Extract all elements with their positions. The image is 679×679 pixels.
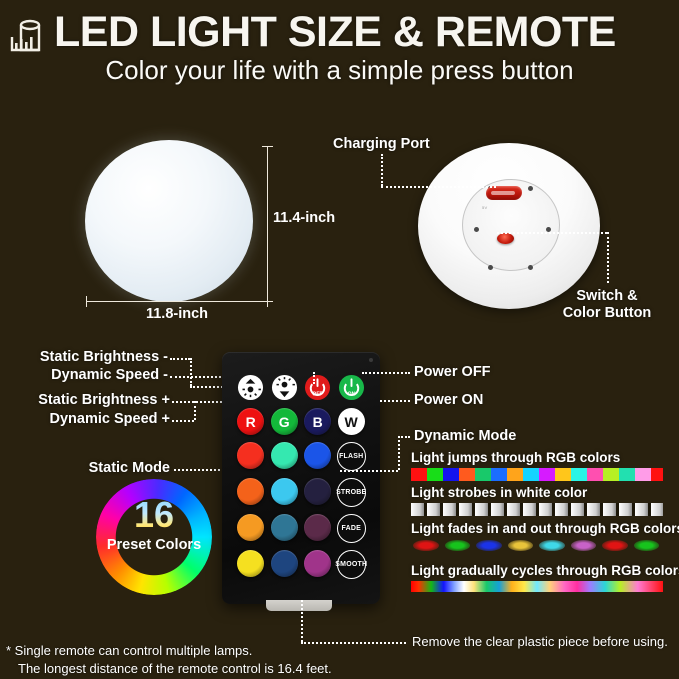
switch-color-button-label-line2: Color Button <box>557 305 657 321</box>
color-button-white-label: W <box>338 408 365 435</box>
power-off-label: Power OFF <box>414 364 491 380</box>
color-button-blue[interactable]: B <box>304 408 331 435</box>
static-brightness-minus-label: Static Brightness - <box>20 349 168 365</box>
base-screw <box>488 265 493 270</box>
dynamic-mode-leader-h2 <box>340 470 398 472</box>
mode-button-strobe[interactable]: STROBE <box>337 478 366 507</box>
page-header: LED LIGHT SIZE & REMOTE Color your life … <box>0 0 679 96</box>
footnote-line-2: The longest distance of the remote contr… <box>18 661 332 676</box>
color-button-navy[interactable] <box>304 478 331 505</box>
power-on-button[interactable]: ON <box>338 374 365 401</box>
color-button-magenta[interactable] <box>304 550 331 577</box>
remote-control-image: OFFONRGBWFLASHSTROBEFADESMOOTH <box>222 352 380 604</box>
mode-text-jump: Light jumps through RGB colors <box>411 450 620 465</box>
fade-blob <box>539 540 565 551</box>
brightness-down-button[interactable] <box>271 374 298 401</box>
fade-blob <box>602 540 628 551</box>
mode-button-smooth[interactable]: SMOOTH <box>337 550 366 579</box>
fade-blob <box>571 540 597 551</box>
ir-led-icon <box>369 358 373 362</box>
dynamic-mode-leader-v <box>398 436 400 470</box>
svg-text:OFF: OFF <box>312 392 323 398</box>
charging-port-leader-v <box>381 154 383 186</box>
switch-color-button-label-line1: Switch & <box>557 288 657 304</box>
page-subtitle: Color your life with a simple press butt… <box>0 55 679 85</box>
preset-colors-ring: 16 Preset Colors <box>96 479 212 595</box>
color-button-blue-label: B <box>304 408 331 435</box>
svg-text:ON: ON <box>347 392 355 398</box>
color-button-red[interactable]: R <box>237 408 264 435</box>
color-button-blue-2[interactable] <box>304 442 331 469</box>
fade-blob <box>413 540 439 551</box>
color-button-indigo[interactable] <box>271 550 298 577</box>
dynamic-speed-plus-label: Dynamic Speed + <box>20 411 170 427</box>
plastic-note-leader-v <box>301 600 303 642</box>
static-mode-label: Static Mode <box>60 460 170 476</box>
charging-port <box>486 186 523 200</box>
mode-text-fade: Light fades in and out through RGB color… <box>411 521 679 536</box>
power-off-leader-v <box>313 372 315 384</box>
static-brightness-plus-label: Static Brightness + <box>20 392 170 408</box>
color-button-green-label: G <box>271 408 298 435</box>
led-lamp-icon <box>8 17 48 57</box>
dsp-leader-v <box>194 401 196 420</box>
preset-colors-caption: Preset Colors <box>96 537 212 553</box>
power-on-label: Power ON <box>414 392 483 408</box>
color-button-cyan[interactable] <box>271 478 298 505</box>
dynamic-speed-minus-label: Dynamic Speed - <box>20 367 168 383</box>
mode-button-fade[interactable]: FADE <box>337 514 366 543</box>
footnote-line-1: * Single remote can control multiple lam… <box>6 643 252 658</box>
color-button-red-2[interactable] <box>237 442 264 469</box>
color-button-plum[interactable] <box>304 514 331 541</box>
color-button-yellow[interactable] <box>237 550 264 577</box>
mode-button-flash-label: FLASH <box>338 443 365 470</box>
color-button-spring[interactable] <box>271 442 298 469</box>
base-screw <box>528 186 533 191</box>
color-button-green[interactable]: G <box>271 408 298 435</box>
width-dimension-label: 11.8-inch <box>86 306 268 322</box>
plastic-note-leader-h <box>301 642 406 644</box>
power-off-button[interactable]: OFF <box>304 374 331 401</box>
mode-button-flash[interactable]: FLASH <box>337 442 366 471</box>
clear-plastic-piece[interactable] <box>266 600 332 611</box>
fade-blob <box>445 540 471 551</box>
brightness-up-button[interactable] <box>237 374 264 401</box>
height-dimension-label: 11.4-inch <box>273 210 335 226</box>
fade-blob <box>634 540 660 551</box>
dynamic-mode-label: Dynamic Mode <box>414 428 516 444</box>
color-button-white[interactable]: W <box>338 408 365 435</box>
page-title: LED LIGHT SIZE & REMOTE <box>54 8 674 56</box>
switch-leader-h <box>497 232 607 234</box>
color-button-steel[interactable] <box>271 514 298 541</box>
power-on-leader-h <box>380 400 410 402</box>
charging-port-label: Charging Port <box>333 136 430 152</box>
base-screw <box>474 227 479 232</box>
mode-bar-smooth <box>411 581 663 592</box>
color-button-orange[interactable] <box>237 478 264 505</box>
color-button-amber[interactable] <box>237 514 264 541</box>
color-button-red-label: R <box>237 408 264 435</box>
lamp-base-image: 5V <box>418 143 600 309</box>
lamp-globe-image <box>85 140 253 302</box>
fade-blob <box>508 540 534 551</box>
mode-bar-jump <box>411 468 663 481</box>
preset-colors-count: 16 <box>96 497 212 533</box>
mode-text-smooth: Light gradually cycles through RGB color… <box>411 563 679 578</box>
base-label-text: 5V <box>482 205 488 210</box>
sbm-leader-v <box>190 358 192 386</box>
charging-port-leader-h <box>381 186 496 188</box>
plastic-note: Remove the clear plastic piece before us… <box>412 634 668 649</box>
dsp-leader-h <box>172 420 194 422</box>
width-dimension-line <box>86 301 268 302</box>
mode-bar-strobe <box>411 503 663 516</box>
mode-bar-fade <box>411 540 663 551</box>
power-off-leader-h <box>362 372 410 374</box>
mode-button-smooth-label: SMOOTH <box>338 551 365 578</box>
switch-color-button[interactable] <box>497 233 514 244</box>
height-dimension-line <box>267 146 268 302</box>
base-screw <box>528 265 533 270</box>
mode-button-fade-label: FADE <box>338 515 365 542</box>
switch-leader-v <box>607 232 609 283</box>
mode-button-strobe-label: STROBE <box>338 479 365 506</box>
sbm-leader-h <box>170 358 190 360</box>
remote-button-grid: OFFONRGBWFLASHSTROBEFADESMOOTH <box>234 374 368 579</box>
mode-text-strobe: Light strobes in white color <box>411 485 587 500</box>
fade-blob <box>476 540 502 551</box>
